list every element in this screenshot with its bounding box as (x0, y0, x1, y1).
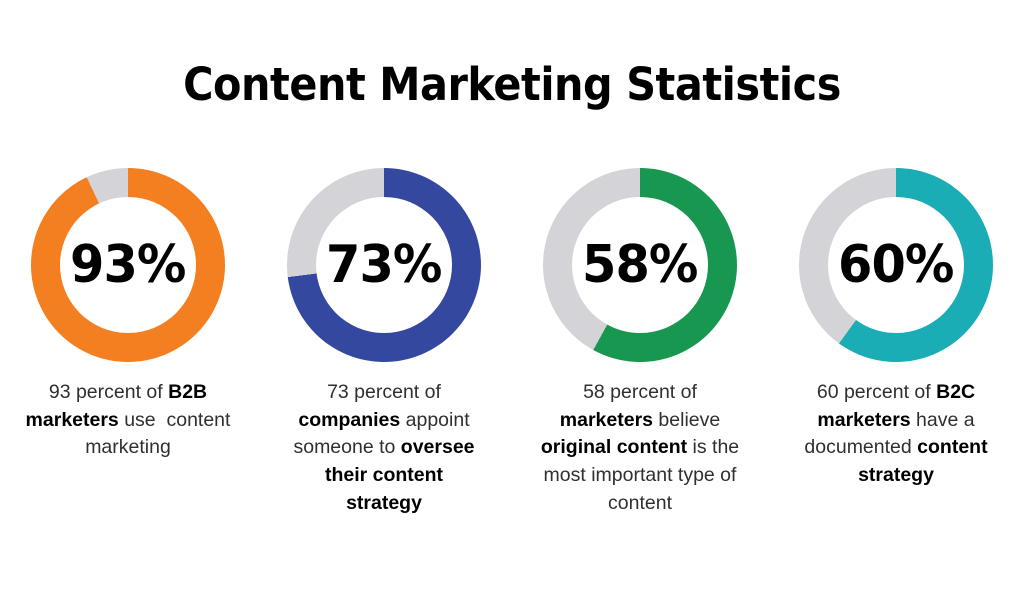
donut-chart-b2c-documented-strategy: 60% (799, 168, 993, 362)
donut-ring: 58% (543, 168, 737, 362)
donut-hole: 73% (316, 197, 452, 333)
donut-card: 58% 58 percent of marketers believe orig… (512, 168, 768, 517)
donut-caption: 73 percent of companies appoint someone … (286, 379, 482, 517)
donut-caption: 60 percent of B2C marketers have a docum… (782, 379, 1010, 490)
donut-percent-label: 73% (326, 239, 441, 291)
donut-card: 60% 60 percent of B2C marketers have a d… (768, 168, 1024, 490)
donut-card: 93% 93 percent of B2B marketers use cont… (0, 168, 256, 462)
donut-hole: 60% (828, 197, 964, 333)
infographic-root: Content Marketing Statistics 93% 93 perc… (0, 0, 1024, 610)
donut-percent-label: 60% (838, 239, 953, 291)
page-title: Content Marketing Statistics (41, 62, 983, 107)
donut-chart-b2b-content-marketing: 93% (31, 168, 225, 362)
donut-ring: 60% (799, 168, 993, 362)
donut-chart-companies-oversee-strategy: 73% (287, 168, 481, 362)
donut-hole: 58% (572, 197, 708, 333)
donut-card: 73% 73 percent of companies appoint some… (256, 168, 512, 517)
donut-hole: 93% (60, 197, 196, 333)
donut-percent-label: 93% (70, 239, 185, 291)
donut-ring: 93% (31, 168, 225, 362)
donut-caption: 93 percent of B2B marketers use content … (20, 379, 236, 462)
donut-ring: 73% (287, 168, 481, 362)
donut-chart-marketers-original-content: 58% (543, 168, 737, 362)
donut-card-list: 93% 93 percent of B2B marketers use cont… (0, 168, 1024, 517)
donut-percent-label: 58% (582, 239, 697, 291)
donut-caption: 58 percent of marketers believe original… (535, 379, 745, 517)
